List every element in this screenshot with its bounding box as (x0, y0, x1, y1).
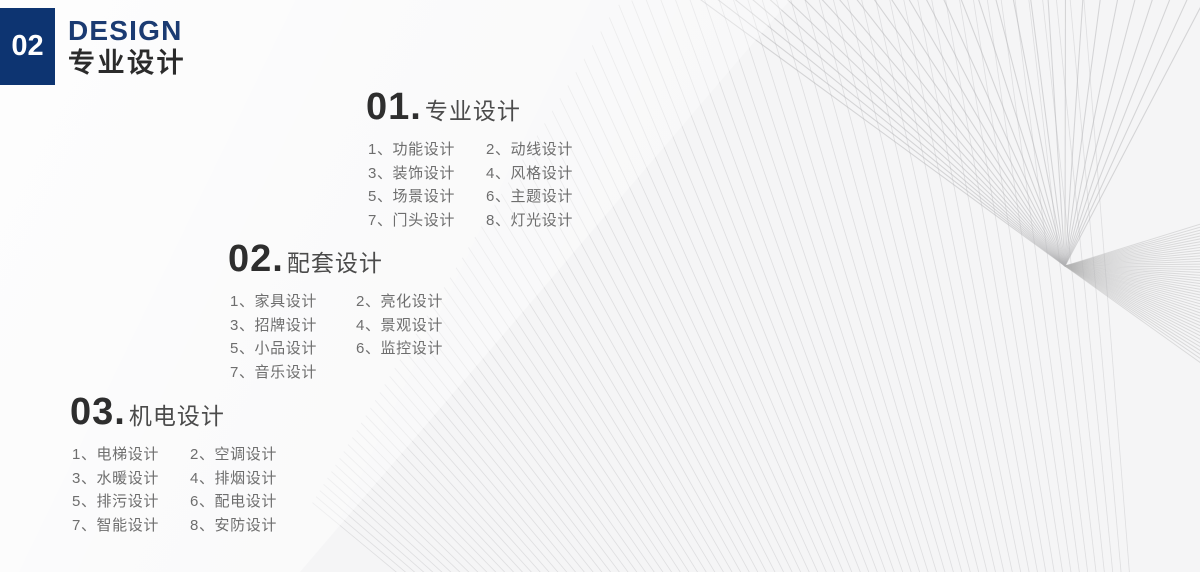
header-title-group: DESIGN 专业设计 (68, 8, 186, 85)
list-row: 1、功能设计 2、动线设计 (368, 138, 596, 162)
section-item-list: 1、功能设计 2、动线设计 3、装饰设计 4、风格设计 5、场景设计 6、主题设… (366, 138, 596, 232)
header-title-en: DESIGN (68, 16, 186, 45)
list-row: 3、装饰设计 4、风格设计 (368, 162, 596, 186)
slide-canvas: 02 DESIGN 专业设计 01. 专业设计 1、功能设计 2、动线设计 3、… (0, 0, 1200, 572)
list-item: 6、配电设计 (190, 490, 300, 514)
list-item: 2、动线设计 (486, 138, 596, 162)
list-item: 3、水暖设计 (72, 467, 182, 491)
list-row: 1、电梯设计 2、空调设计 (72, 443, 300, 467)
section-heading: 02. 配套设计 (228, 240, 466, 278)
section-number-badge: 02 (0, 8, 55, 85)
list-item: 5、场景设计 (368, 185, 478, 209)
list-row: 1、家具设计 2、亮化设计 (230, 290, 466, 314)
list-item: 1、功能设计 (368, 138, 478, 162)
header-title-cn: 专业设计 (68, 48, 186, 79)
list-row: 5、小品设计 6、监控设计 (230, 337, 466, 361)
list-item: 8、安防设计 (190, 514, 300, 538)
list-item: 6、主题设计 (486, 185, 596, 209)
section-number: 02. (228, 240, 284, 278)
list-row: 7、智能设计 8、安防设计 (72, 514, 300, 538)
section-title: 配套设计 (287, 252, 383, 275)
content-section-02: 02. 配套设计 1、家具设计 2、亮化设计 3、招牌设计 4、景观设计 5、小… (228, 240, 466, 384)
list-item: 4、排烟设计 (190, 467, 300, 491)
section-item-list: 1、电梯设计 2、空调设计 3、水暖设计 4、排烟设计 5、排污设计 6、配电设… (70, 443, 300, 537)
list-item: 2、亮化设计 (356, 290, 466, 314)
section-title: 机电设计 (129, 405, 225, 428)
list-item: 8、灯光设计 (486, 209, 596, 233)
section-item-list: 1、家具设计 2、亮化设计 3、招牌设计 4、景观设计 5、小品设计 6、监控设… (228, 290, 466, 384)
list-item: 6、监控设计 (356, 337, 466, 361)
list-row: 5、场景设计 6、主题设计 (368, 185, 596, 209)
list-row: 3、水暖设计 4、排烟设计 (72, 467, 300, 491)
section-heading: 03. 机电设计 (70, 393, 300, 431)
list-item: 1、家具设计 (230, 290, 340, 314)
list-item: 7、门头设计 (368, 209, 478, 233)
list-row: 5、排污设计 6、配电设计 (72, 490, 300, 514)
slide-header: 02 DESIGN 专业设计 (0, 8, 186, 85)
list-row: 3、招牌设计 4、景观设计 (230, 314, 466, 338)
list-item: 7、音乐设计 (230, 361, 340, 385)
list-item: 1、电梯设计 (72, 443, 182, 467)
section-title: 专业设计 (425, 100, 521, 123)
list-item: 4、风格设计 (486, 162, 596, 186)
section-number: 03. (70, 393, 126, 431)
list-row: 7、门头设计 8、灯光设计 (368, 209, 596, 233)
list-item: 5、小品设计 (230, 337, 340, 361)
content-section-03: 03. 机电设计 1、电梯设计 2、空调设计 3、水暖设计 4、排烟设计 5、排… (70, 393, 300, 537)
content-section-01: 01. 专业设计 1、功能设计 2、动线设计 3、装饰设计 4、风格设计 5、场… (366, 88, 596, 232)
section-heading: 01. 专业设计 (366, 88, 596, 126)
list-item: 4、景观设计 (356, 314, 466, 338)
list-item: 3、装饰设计 (368, 162, 478, 186)
section-number: 01. (366, 88, 422, 126)
list-item: 2、空调设计 (190, 443, 300, 467)
list-row: 7、音乐设计 (230, 361, 466, 385)
list-item: 7、智能设计 (72, 514, 182, 538)
list-item: 3、招牌设计 (230, 314, 340, 338)
list-item: 5、排污设计 (72, 490, 182, 514)
